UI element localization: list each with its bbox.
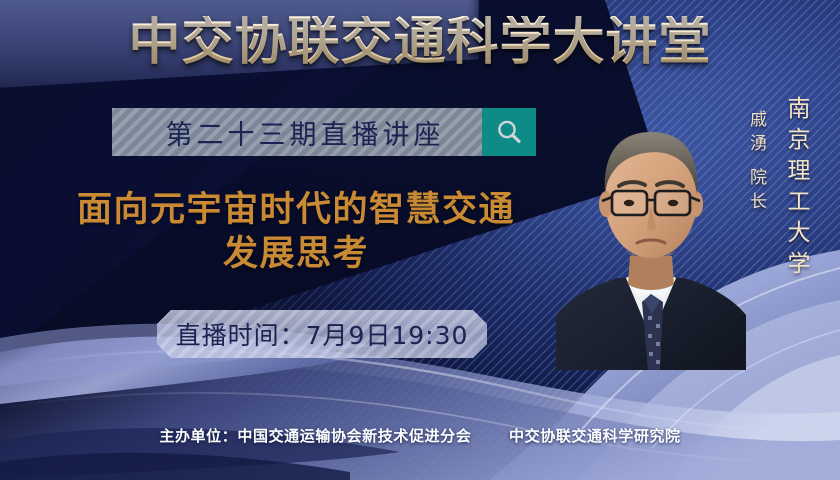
speaker-role: 院长: [744, 168, 769, 216]
lecture-headline: 面向元宇宙时代的智慧交通 发展思考: [40, 188, 552, 277]
footer-organizer: 主办单位：中国交通运输协会新技术促进分会: [159, 427, 471, 445]
session-banner-body: 第二十三期直播讲座: [112, 108, 482, 156]
speaker-university: 南京理工大学: [779, 96, 813, 282]
lecture-poster: 中交协联交通科学大讲堂 第二十三期直播讲座 面向元宇宙时代的智慧交通 发展思考 …: [0, 0, 840, 480]
search-icon[interactable]: [482, 108, 536, 156]
footer-co-organizer: 中交协联交通科学研究院: [509, 427, 681, 445]
session-banner: 第二十三期直播讲座: [112, 108, 536, 156]
broadcast-time-text: 直播时间：7月9日19:30: [176, 316, 469, 352]
session-banner-label: 第二十三期直播讲座: [150, 113, 445, 152]
footer-organizers: 主办单位：中国交通运输协会新技术促进分会 中交协联交通科学研究院: [0, 425, 840, 446]
page-title: 中交协联交通科学大讲堂: [0, 16, 840, 68]
speaker-portrait: [556, 88, 746, 370]
headline-line-1: 面向元宇宙时代的智慧交通: [77, 190, 515, 230]
headline-line-2: 发展思考: [40, 232, 552, 276]
broadcast-time-badge: 直播时间：7月9日19:30: [157, 310, 487, 358]
speaker-name: 戚湧: [744, 110, 769, 158]
